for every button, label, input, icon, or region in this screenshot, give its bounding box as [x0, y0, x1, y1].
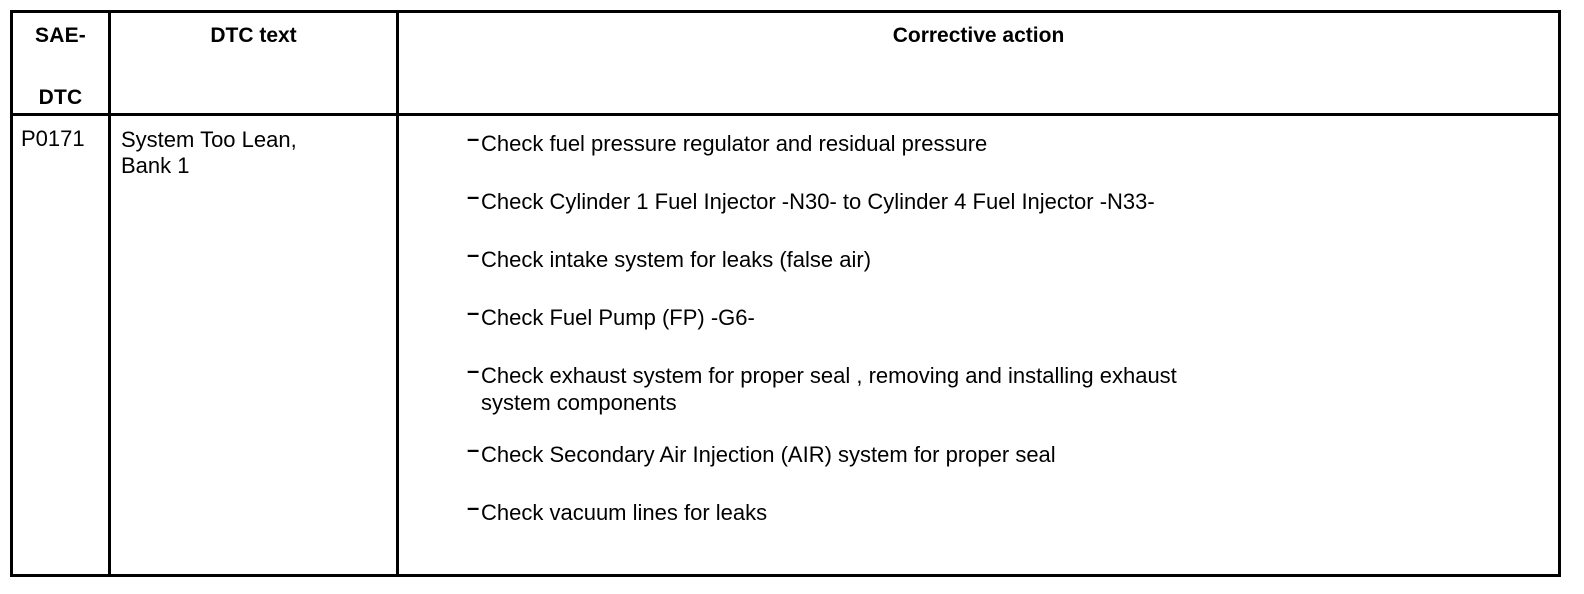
list-item: – Check Cylinder 1 Fuel Injector -N30- t…	[399, 188, 1558, 215]
dash-bullet-icon: –	[467, 125, 479, 152]
dash-bullet-icon: –	[467, 299, 479, 326]
cell-sae-dtc-code: P0171	[12, 115, 110, 576]
dash-bullet-icon: –	[467, 183, 479, 210]
corrective-action-list: – Check fuel pressure regulator and resi…	[399, 116, 1558, 526]
corrective-action-text: Check vacuum lines for leaks	[481, 499, 1558, 526]
dash-bullet-icon: –	[467, 436, 479, 463]
corrective-action-text: Check fuel pressure regulator and residu…	[481, 130, 1558, 157]
dash-bullet-icon: –	[467, 357, 479, 384]
column-header-sae-dtc-line1: SAE-	[13, 13, 108, 46]
dash-bullet-icon: –	[467, 494, 479, 521]
dtc-text-line2: Bank 1	[121, 153, 396, 179]
column-header-dtc-text-label: DTC text	[111, 13, 396, 46]
list-item: – Check Secondary Air Injection (AIR) sy…	[399, 441, 1558, 468]
column-header-sae-dtc: SAE- DTC	[12, 12, 110, 115]
list-item: – Check vacuum lines for leaks	[399, 499, 1558, 526]
dtc-code-value: P0171	[13, 116, 108, 150]
cell-dtc-text: System Too Lean, Bank 1	[110, 115, 398, 576]
corrective-action-text: Check Cylinder 1 Fuel Injector -N30- to …	[481, 188, 1558, 215]
dtc-text-wrapper: System Too Lean, Bank 1	[111, 116, 396, 179]
column-header-corrective-action-label: Corrective action	[399, 13, 1558, 46]
dtc-corrective-action-table: SAE- DTC DTC text Corrective action P017…	[10, 10, 1561, 577]
dash-bullet-icon: –	[467, 241, 479, 268]
column-header-dtc-text: DTC text	[110, 12, 398, 115]
corrective-action-text-continued: system components	[481, 390, 677, 415]
list-item: – Check fuel pressure regulator and resi…	[399, 130, 1558, 157]
corrective-action-text: Check exhaust system for proper seal , r…	[481, 362, 1558, 389]
column-header-corrective-action: Corrective action	[398, 12, 1560, 115]
list-item: – Check intake system for leaks (false a…	[399, 246, 1558, 273]
list-item: – Check exhaust system for proper seal ,…	[399, 362, 1558, 416]
corrective-action-text: Check Secondary Air Injection (AIR) syst…	[481, 441, 1558, 468]
document-page: SAE- DTC DTC text Corrective action P017…	[0, 0, 1584, 594]
dtc-text-line1: System Too Lean,	[121, 127, 396, 153]
corrective-action-text: Check intake system for leaks (false air…	[481, 246, 1558, 273]
cell-corrective-actions: – Check fuel pressure regulator and resi…	[398, 115, 1560, 576]
list-item: – Check Fuel Pump (FP) -G6-	[399, 304, 1558, 331]
column-header-sae-dtc-line2: DTC	[13, 46, 108, 108]
table-header-row: SAE- DTC DTC text Corrective action	[12, 12, 1560, 115]
corrective-action-text: Check Fuel Pump (FP) -G6-	[481, 304, 1558, 331]
table-row: P0171 System Too Lean, Bank 1 – Check fu…	[12, 115, 1560, 576]
